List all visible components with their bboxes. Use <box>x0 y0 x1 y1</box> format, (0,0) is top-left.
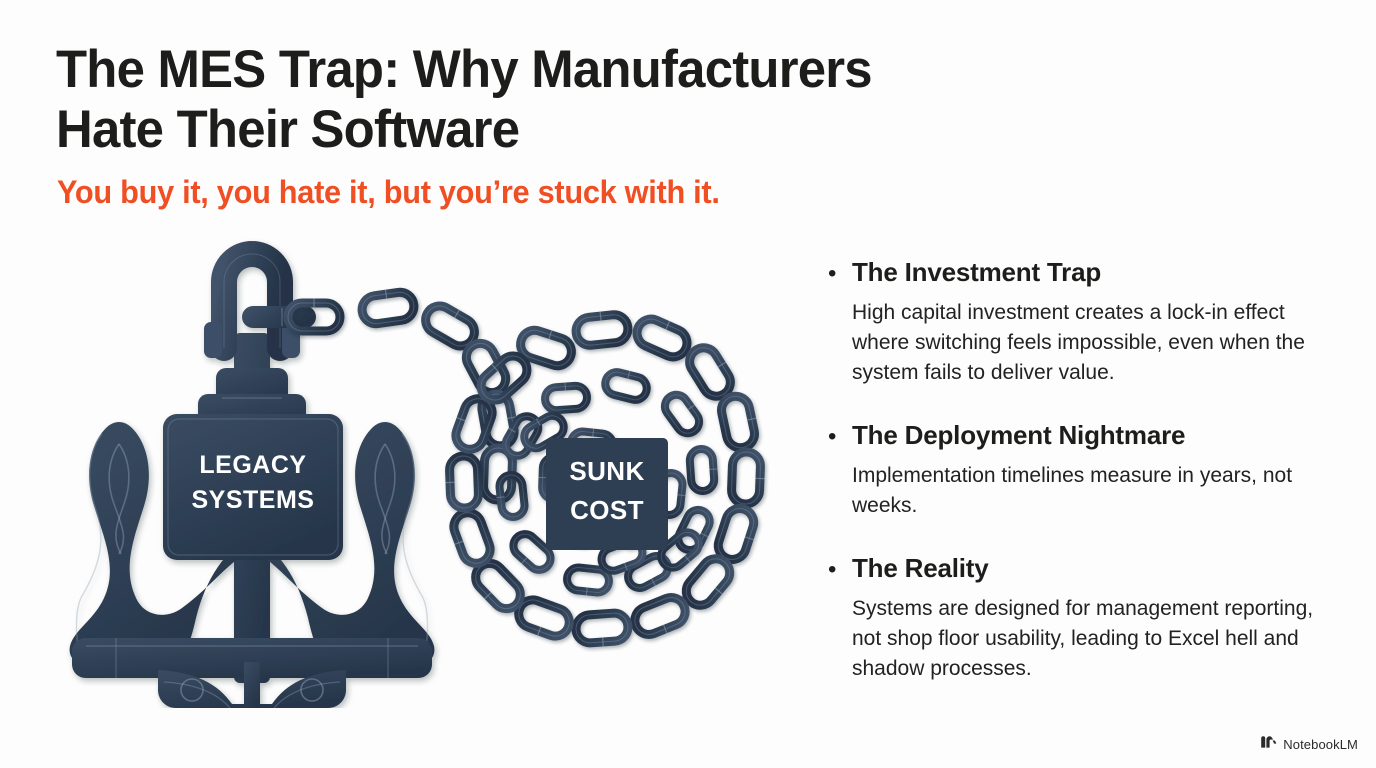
anchor-label-line2: SYSTEMS <box>192 486 315 514</box>
bullet-heading: The Reality <box>852 551 989 585</box>
anchor-label-line1: LEGACY <box>199 451 306 479</box>
notebooklm-watermark: NotebookLM <box>1260 735 1358 754</box>
page-subtitle: You buy it, you hate it, but you’re stuc… <box>57 172 720 212</box>
title-line-2: Hate Their Software <box>56 100 1035 160</box>
bullet-body: High capital investment creates a lock-i… <box>852 298 1332 388</box>
sunk-cost-plate <box>546 438 668 550</box>
bullet-body: Systems are designed for management repo… <box>852 594 1332 684</box>
chain-ball-label-line2: COST <box>570 495 644 525</box>
chain-ball-label-line1: SUNK <box>569 456 644 486</box>
anchor-chain-illustration: LEGACY SYSTEMS <box>46 238 806 708</box>
notebooklm-spiral-icon <box>1260 735 1277 754</box>
bullet-body: Implementation timelines measure in year… <box>852 461 1332 521</box>
bullet-heading: The Investment Trap <box>852 255 1101 289</box>
bullet-list: • The Investment Trap High capital inves… <box>828 255 1348 684</box>
page-title: The MES Trap: Why Manufacturers Hate The… <box>56 40 1076 160</box>
slide-canvas: The MES Trap: Why Manufacturers Hate The… <box>0 0 1376 768</box>
bullet-heading: The Deployment Nightmare <box>852 418 1185 452</box>
bullet-marker-icon: • <box>828 257 852 291</box>
bullet-marker-icon: • <box>828 553 852 587</box>
notebooklm-label: NotebookLM <box>1283 737 1358 752</box>
list-item: • The Deployment Nightmare Implementatio… <box>828 418 1348 521</box>
title-line-1: The MES Trap: Why Manufacturers <box>56 40 1035 100</box>
list-item: • The Reality Systems are designed for m… <box>828 551 1348 684</box>
list-item: • The Investment Trap High capital inves… <box>828 255 1348 388</box>
bullet-marker-icon: • <box>828 420 852 454</box>
